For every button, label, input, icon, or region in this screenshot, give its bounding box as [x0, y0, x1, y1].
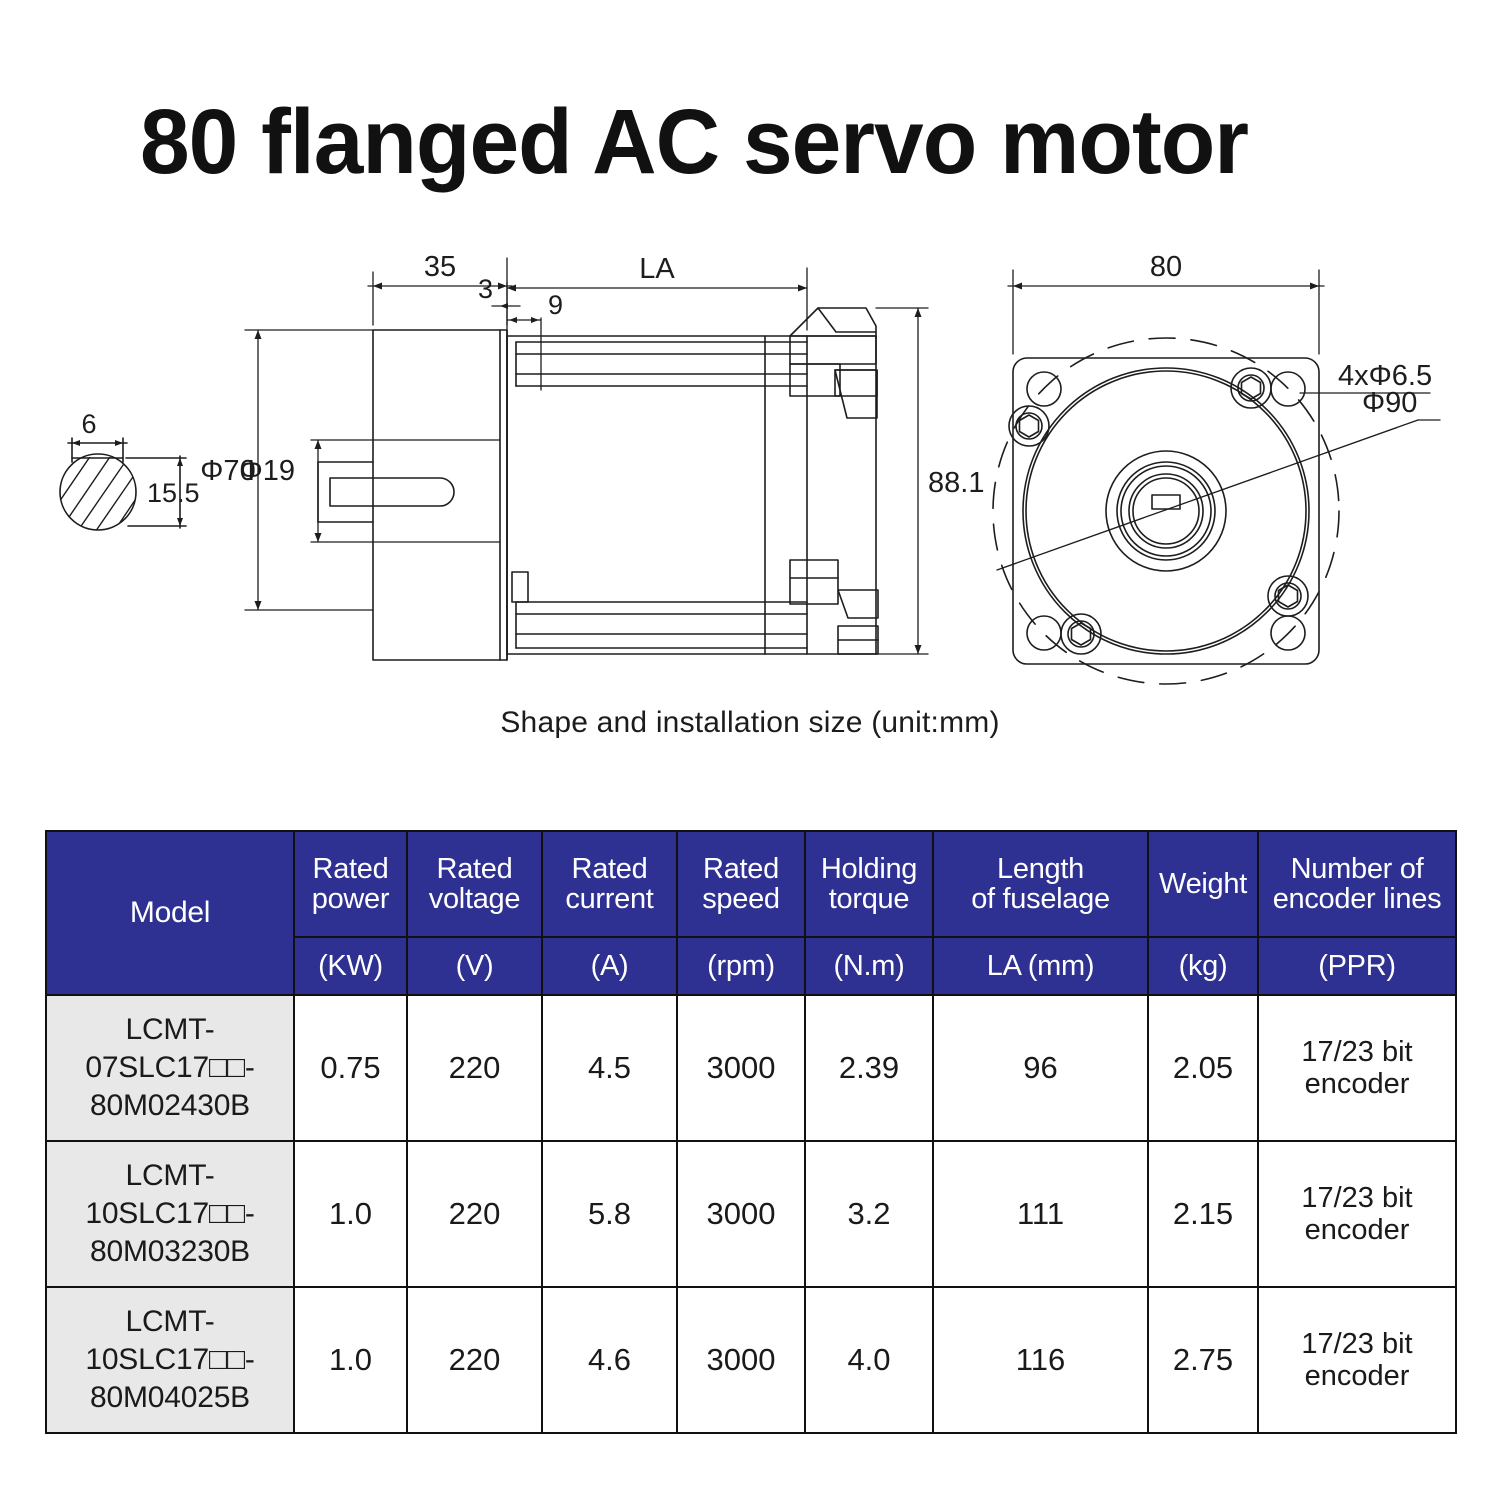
rated-voltage-value: 220 — [407, 1141, 542, 1287]
rated-power-value: 1.0 — [294, 1287, 407, 1433]
keyway-section: 6 15.5 — [40, 409, 200, 560]
table-row: LCMT-10SLC17□□-80M03230B1.02205.830003.2… — [46, 1141, 1456, 1287]
keyway-width-label: 6 — [81, 409, 96, 439]
dim-88-1-label: 88.1 — [928, 467, 984, 499]
rated-current-value: 4.5 — [542, 995, 677, 1141]
encoder-lines-value: 17/23 bitencoder — [1258, 1141, 1456, 1287]
col-header-weight: Weight — [1148, 831, 1258, 937]
dim-phi19-label: Φ19 — [240, 455, 295, 487]
weight-value: 2.75 — [1148, 1287, 1258, 1433]
weight-value: 2.05 — [1148, 995, 1258, 1141]
col-unit-rated-speed: (rpm) — [677, 937, 805, 995]
rated-speed-value: 3000 — [677, 995, 805, 1141]
table-row: LCMT-07SLC17□□-80M02430B0.752204.530002.… — [46, 995, 1456, 1141]
motor-front-view — [993, 338, 1339, 684]
col-unit-rated-current: (A) — [542, 937, 677, 995]
dim-LA-label: LA — [639, 253, 675, 285]
table-header-row-title: Model Ratedpower Ratedvoltage Ratedcurre… — [46, 831, 1456, 937]
length-of-fuselage-value: 96 — [933, 995, 1148, 1141]
col-unit-holding-torque: (N.m) — [805, 937, 933, 995]
side-view-dimensions: 35 3 9 LA Φ70 — [200, 251, 984, 654]
table-row: LCMT-10SLC17□□-80M04025B1.02204.630004.0… — [46, 1287, 1456, 1433]
col-unit-weight: (kg) — [1148, 937, 1258, 995]
rated-power-value: 0.75 — [294, 995, 407, 1141]
technical-drawing: 6 15.5 — [0, 230, 1500, 700]
rated-speed-value: 3000 — [677, 1287, 805, 1433]
holding-torque-value: 2.39 — [805, 995, 933, 1141]
rated-voltage-value: 220 — [407, 1287, 542, 1433]
dim-80-label: 80 — [1150, 251, 1182, 283]
holding-torque-value: 3.2 — [805, 1141, 933, 1287]
encoder-lines-value: 17/23 bitencoder — [1258, 995, 1456, 1141]
col-unit-encoder-lines: (PPR) — [1258, 937, 1456, 995]
col-header-length-of-fuselage: Lengthof fuselage — [933, 831, 1148, 937]
length-of-fuselage-value: 116 — [933, 1287, 1148, 1433]
model-value: LCMT-07SLC17□□-80M02430B — [46, 995, 294, 1141]
dim-35-label: 35 — [424, 251, 456, 283]
col-header-model: Model — [46, 831, 294, 995]
model-value: LCMT-10SLC17□□-80M04025B — [46, 1287, 294, 1433]
col-unit-rated-power: (KW) — [294, 937, 407, 995]
col-header-rated-speed: Ratedspeed — [677, 831, 805, 937]
drawing-caption: Shape and installation size (unit:mm) — [0, 706, 1500, 740]
col-header-holding-torque: Holdingtorque — [805, 831, 933, 937]
encoder-lines-value: 17/23 bitencoder — [1258, 1287, 1456, 1433]
rated-power-value: 1.0 — [294, 1141, 407, 1287]
table-header: Model Ratedpower Ratedvoltage Ratedcurre… — [46, 831, 1456, 995]
col-header-rated-power: Ratedpower — [294, 831, 407, 937]
dim-9-label: 9 — [548, 290, 563, 320]
keyway-height-label: 15.5 — [147, 478, 200, 508]
model-value: LCMT-10SLC17□□-80M03230B — [46, 1141, 294, 1287]
motor-side-view — [318, 308, 878, 660]
rated-current-value: 4.6 — [542, 1287, 677, 1433]
rated-current-value: 5.8 — [542, 1141, 677, 1287]
rated-voltage-value: 220 — [407, 995, 542, 1141]
weight-value: 2.15 — [1148, 1141, 1258, 1287]
col-header-rated-voltage: Ratedvoltage — [407, 831, 542, 937]
specification-table: Model Ratedpower Ratedvoltage Ratedcurre… — [45, 830, 1455, 1434]
col-unit-rated-voltage: (V) — [407, 937, 542, 995]
page-title: 80 flanged AC servo motor — [140, 88, 1343, 196]
spec-table: Model Ratedpower Ratedvoltage Ratedcurre… — [45, 830, 1457, 1434]
col-header-rated-current: Ratedcurrent — [542, 831, 677, 937]
table-body: LCMT-07SLC17□□-80M02430B0.752204.530002.… — [46, 995, 1456, 1433]
dim-phi90-label: Φ90 — [1362, 387, 1417, 419]
drawing-svg: 6 15.5 — [0, 230, 1500, 700]
rated-speed-value: 3000 — [677, 1141, 805, 1287]
length-of-fuselage-value: 111 — [933, 1141, 1148, 1287]
col-header-encoder-lines: Number ofencoder lines — [1258, 831, 1456, 937]
holding-torque-value: 4.0 — [805, 1287, 933, 1433]
col-unit-length-of-fuselage: LA (mm) — [933, 937, 1148, 995]
dim-3-label: 3 — [478, 274, 493, 304]
